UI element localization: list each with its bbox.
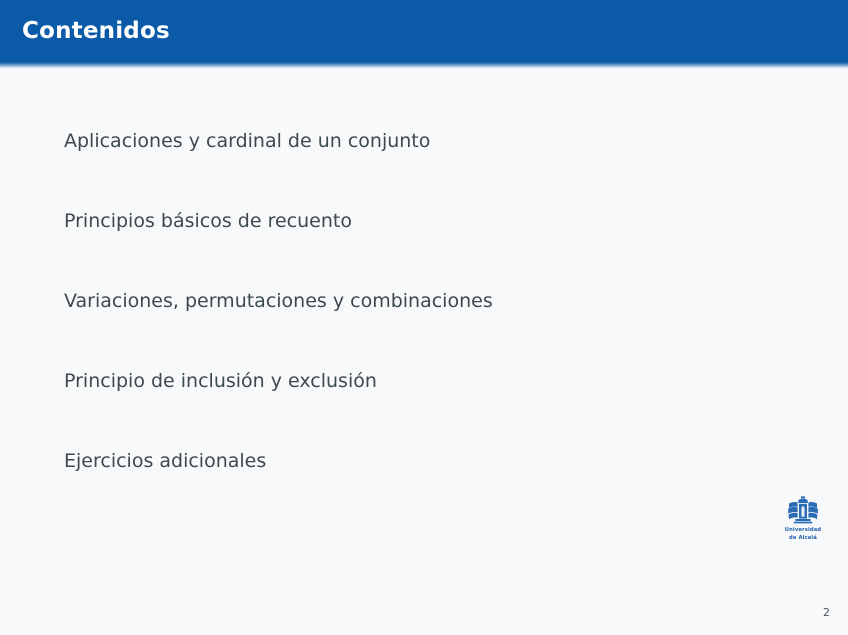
university-logo-line-1: Universidad [778, 527, 828, 534]
list-item[interactable]: Ejercicios adicionales [64, 452, 764, 532]
page-number: 2 [823, 607, 830, 618]
slide: Contenidos Aplicaciones y cardinal de un… [0, 0, 848, 635]
list-item-label: Principio de inclusión y exclusión [64, 372, 377, 391]
list-item-label: Ejercicios adicionales [64, 452, 266, 471]
contents-list: Aplicaciones y cardinal de un conjunto P… [64, 132, 764, 532]
list-item-label: Principios básicos de recuento [64, 212, 352, 231]
page-title: Contenidos [22, 20, 170, 43]
list-item-label: Variaciones, permutaciones y combinacion… [64, 292, 493, 311]
university-crest-icon [786, 494, 820, 526]
university-logo: Universidad de Alcalá [778, 494, 828, 552]
list-item[interactable]: Principios básicos de recuento [64, 212, 764, 292]
slide-header: Contenidos [0, 0, 848, 62]
header-gradient-divider [0, 62, 848, 69]
list-item[interactable]: Principio de inclusión y exclusión [64, 372, 764, 452]
list-item[interactable]: Variaciones, permutaciones y combinacion… [64, 292, 764, 372]
university-logo-line-2: de Alcalá [778, 535, 828, 542]
list-item-label: Aplicaciones y cardinal de un conjunto [64, 132, 430, 151]
list-item[interactable]: Aplicaciones y cardinal de un conjunto [64, 132, 764, 212]
